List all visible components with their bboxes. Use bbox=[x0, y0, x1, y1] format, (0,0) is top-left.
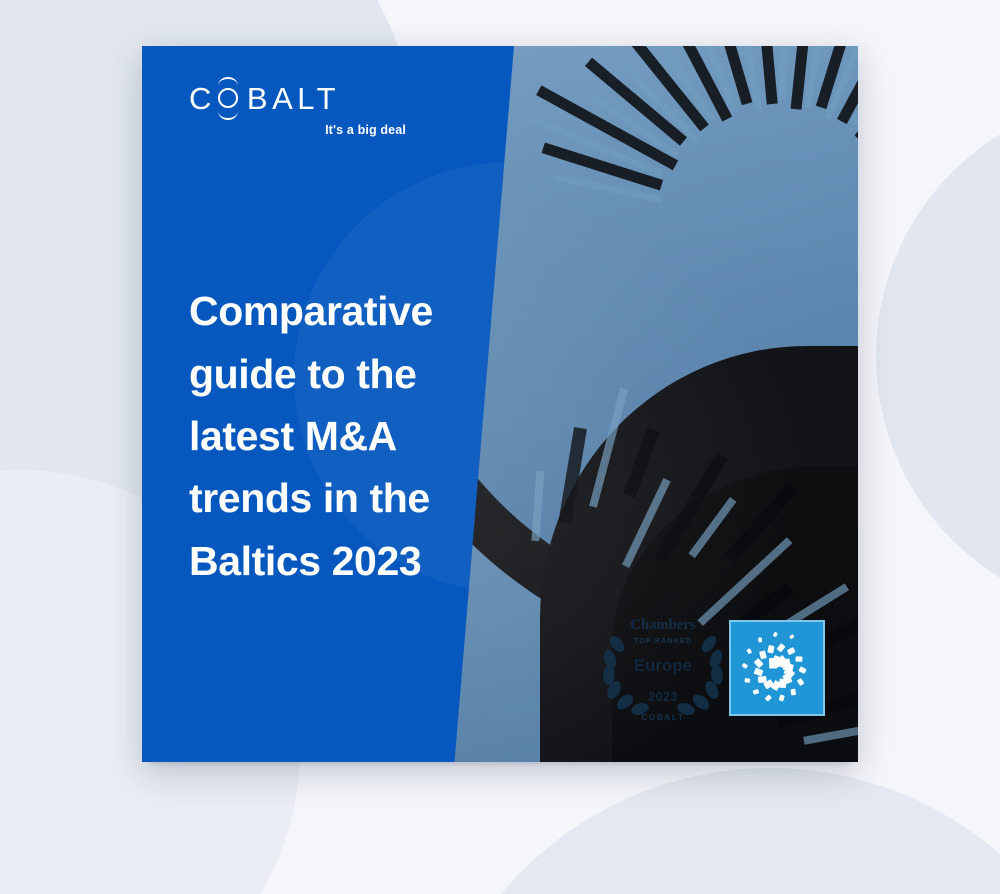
chambers-rank-label: TOP RANKED bbox=[599, 636, 727, 645]
cobalt-wordmark: C BALT bbox=[189, 83, 409, 114]
spiral-tiles-icon bbox=[731, 622, 823, 714]
chambers-top-ranked-badge[interactable]: Chambers TOP RANKED Europe 2023 COBALT bbox=[599, 614, 727, 724]
chambers-year-label: 2023 bbox=[599, 690, 727, 704]
background-blob-bottom bbox=[420, 768, 1000, 894]
chambers-badge-text: Chambers TOP RANKED Europe 2023 COBALT bbox=[599, 618, 727, 722]
wordmark-letters-balt: BALT bbox=[247, 83, 340, 114]
chambers-brand-label: Chambers bbox=[599, 618, 727, 634]
cyan-spiral-award-badge[interactable] bbox=[729, 620, 825, 716]
brochure-cover-card[interactable]: C BALT It's a big deal Comparative guide… bbox=[142, 46, 858, 762]
logo-breve-bottom-icon bbox=[218, 111, 238, 120]
screenshot-stage: C BALT It's a big deal Comparative guide… bbox=[0, 0, 1000, 894]
cobalt-breve-o-logo-icon bbox=[217, 83, 244, 114]
logo-o-ring bbox=[218, 88, 238, 108]
photo-fin-slat bbox=[779, 46, 787, 100]
background-blob-right bbox=[876, 96, 1000, 616]
cover-title: Comparative guide to the latest M&A tren… bbox=[189, 280, 479, 592]
cobalt-tagline: It's a big deal bbox=[189, 123, 409, 137]
chambers-firm-label: COBALT bbox=[599, 713, 727, 722]
wordmark-letter-c: C bbox=[189, 83, 216, 114]
chambers-region-label: Europe bbox=[599, 657, 727, 676]
cobalt-logo[interactable]: C BALT It's a big deal bbox=[189, 83, 409, 137]
